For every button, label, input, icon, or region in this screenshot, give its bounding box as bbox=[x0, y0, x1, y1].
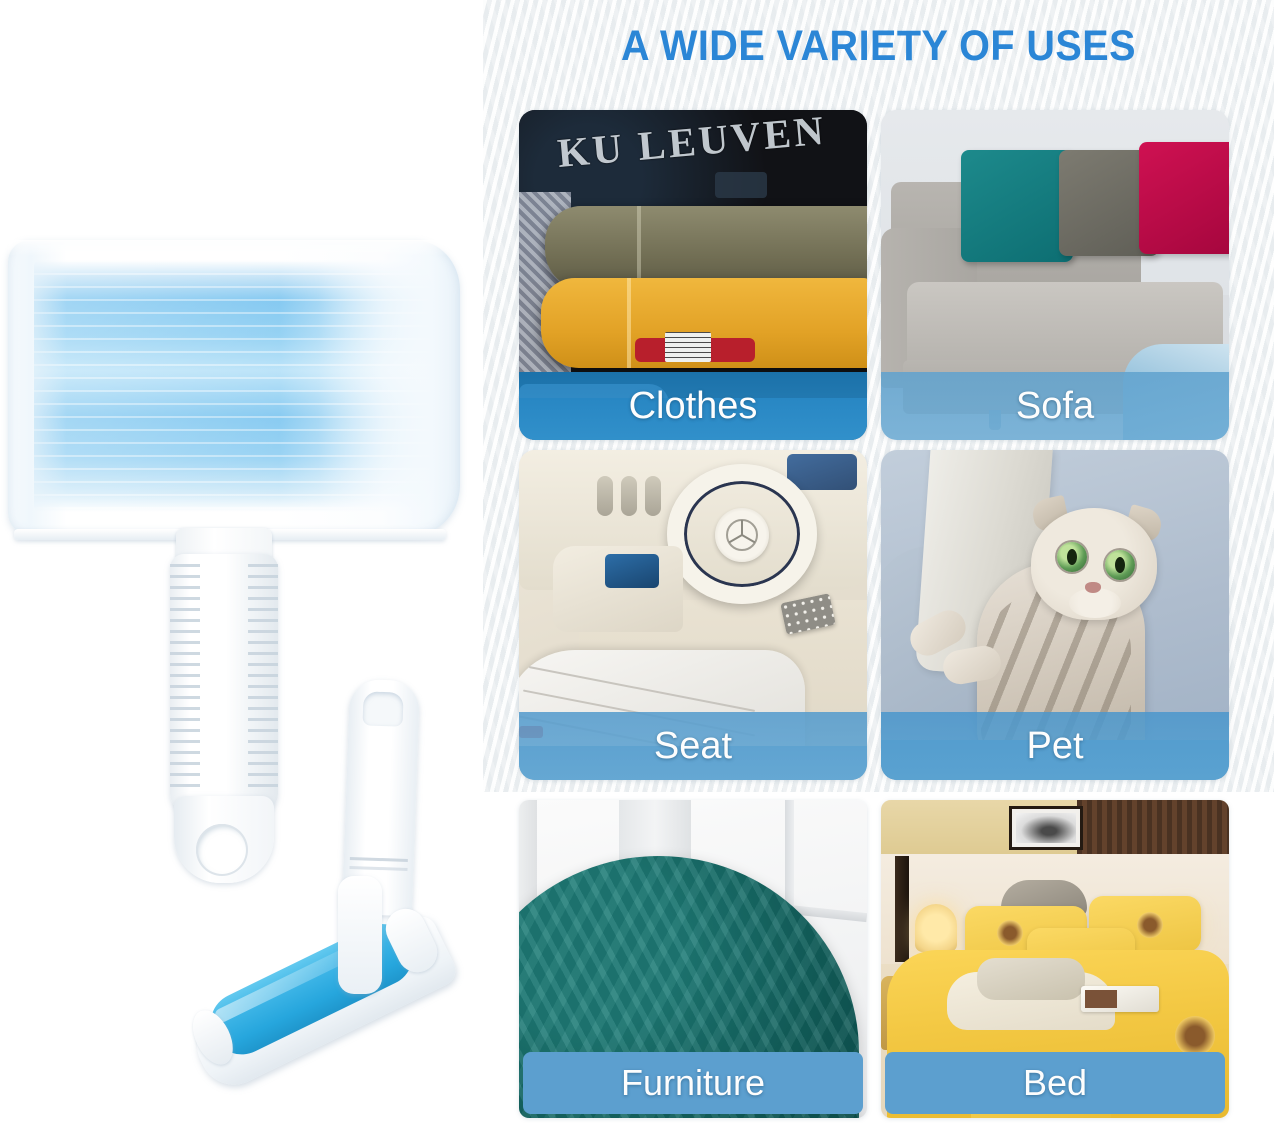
console-screen bbox=[605, 554, 659, 588]
pillow-embroidery bbox=[1137, 912, 1163, 938]
tile-label-pet: Pet bbox=[881, 712, 1229, 780]
framed-wall-art bbox=[1009, 806, 1083, 850]
roller-dust-cover bbox=[8, 240, 460, 535]
mini-roller-arm bbox=[171, 881, 475, 1123]
tile-label-sofa: Sofa bbox=[881, 372, 1229, 440]
use-tile-bed: Bed bbox=[881, 800, 1229, 1118]
duvet-embroidery bbox=[1175, 1016, 1215, 1056]
pink-cushion bbox=[1139, 142, 1229, 254]
bedside-lamp bbox=[915, 904, 957, 952]
tile-label-clothes: Clothes bbox=[519, 372, 867, 440]
tile-label-furniture: Furniture bbox=[523, 1052, 863, 1114]
tile-label-bed: Bed bbox=[885, 1052, 1225, 1114]
pillow-embroidery bbox=[997, 920, 1023, 946]
product-marketing-image: A WIDE VARIETY OF USES KU LEUVEN Clothes bbox=[0, 0, 1274, 1123]
use-tile-seat: Seat bbox=[519, 450, 867, 780]
kitten-pupil bbox=[1115, 557, 1125, 573]
page-title: A WIDE VARIETY OF USES bbox=[515, 22, 1243, 71]
tshirt-graphic-patch bbox=[715, 172, 767, 198]
teal-cushion bbox=[961, 150, 1073, 262]
wood-slat-panel bbox=[1077, 800, 1229, 854]
travel-mini-roller bbox=[168, 680, 458, 1050]
air-vent bbox=[621, 476, 637, 516]
uses-collage-panel: A WIDE VARIETY OF USES KU LEUVEN Clothes bbox=[483, 0, 1274, 1123]
product-photo-panel bbox=[0, 0, 483, 1123]
clothing-care-tag bbox=[665, 332, 711, 362]
air-vent bbox=[597, 476, 613, 516]
dark-wall-pillar bbox=[895, 856, 909, 962]
kitten-pupil bbox=[1067, 549, 1077, 565]
use-tile-furniture: Furniture bbox=[519, 800, 867, 1118]
use-tile-pet: Pet bbox=[881, 450, 1229, 780]
kitten-nose bbox=[1085, 582, 1101, 593]
grey-accent-pillow bbox=[977, 958, 1085, 1000]
use-tile-sofa: Sofa bbox=[881, 110, 1229, 440]
lint-roller-with-cover bbox=[8, 240, 460, 535]
tile-label-seat: Seat bbox=[519, 712, 867, 780]
mercedes-star-icon bbox=[727, 520, 757, 550]
mini-roller-hinge bbox=[338, 876, 382, 994]
open-magazine bbox=[1081, 986, 1159, 1012]
air-vent bbox=[645, 476, 661, 516]
use-tile-clothes: KU LEUVEN Clothes bbox=[519, 110, 867, 440]
dashboard-display bbox=[787, 454, 857, 490]
